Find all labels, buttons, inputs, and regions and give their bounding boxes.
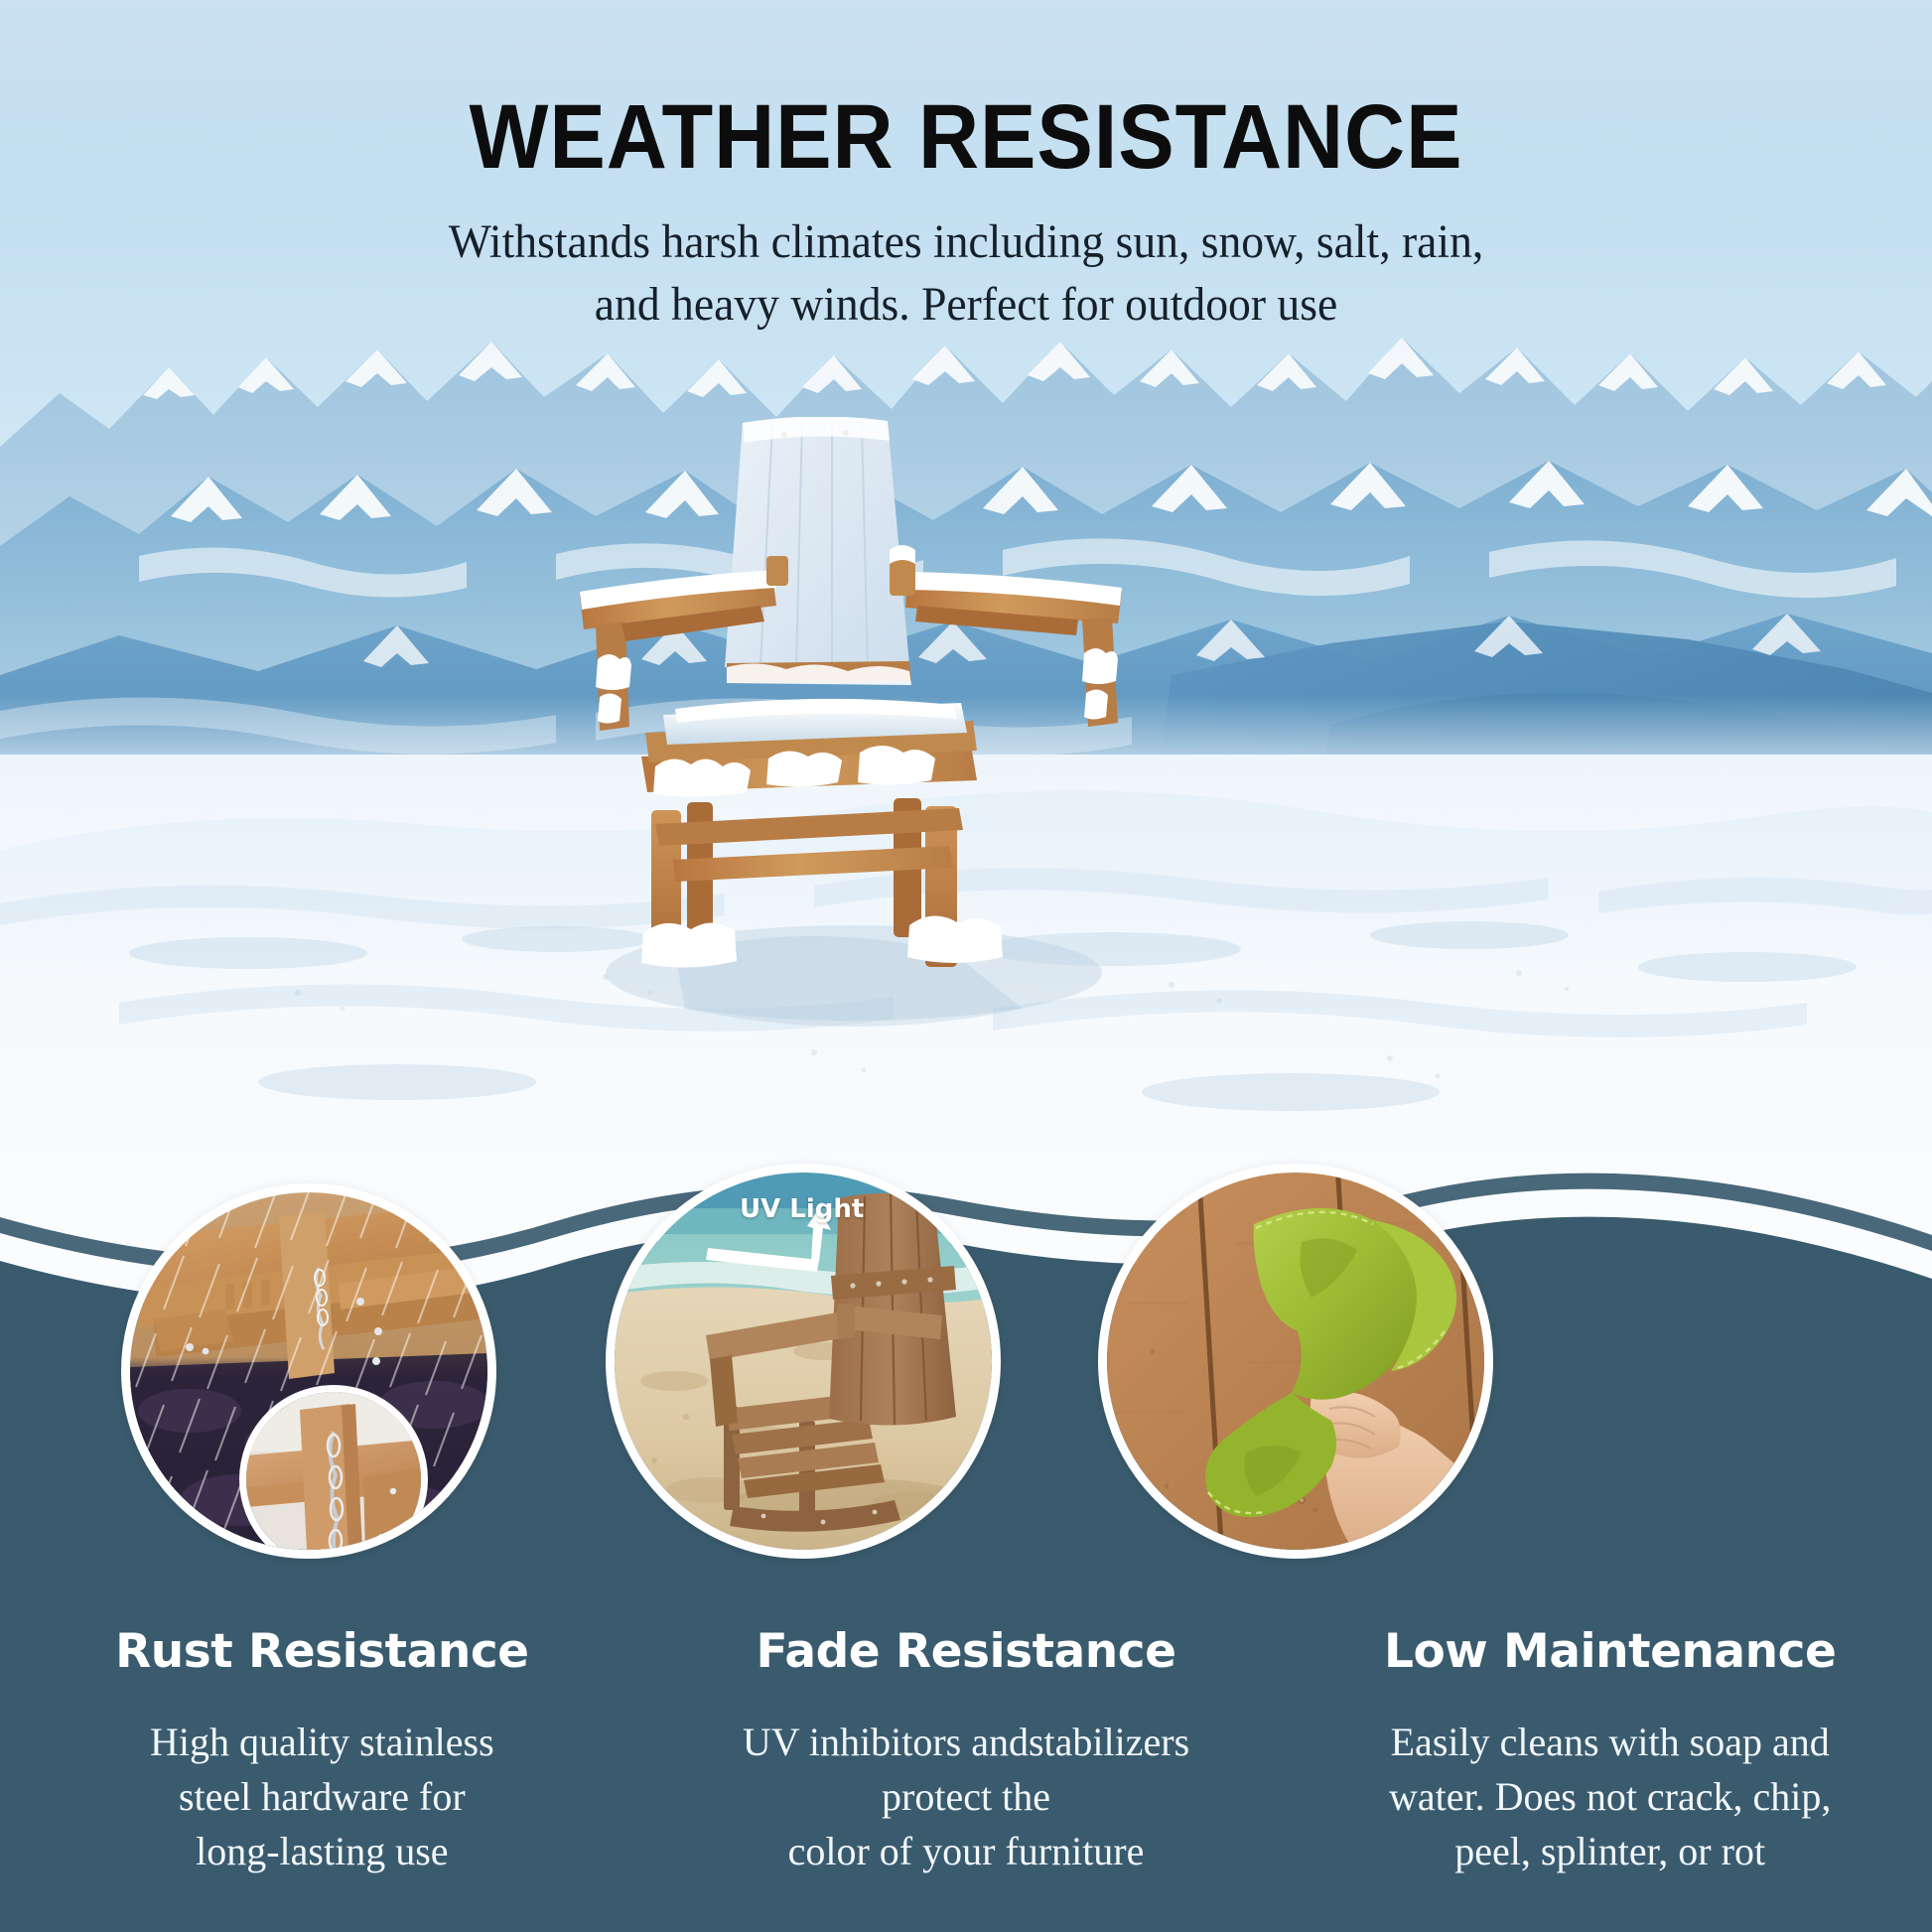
feature-image-low-maintenance[interactable]	[1098, 1164, 1493, 1559]
desc-line: High quality stainless	[40, 1715, 605, 1769]
feature-column-rust-resistance: Rust Resistance High quality stainless s…	[0, 1628, 644, 1879]
desc-line: UV inhibitors andstabilizers	[684, 1715, 1249, 1769]
feature-column-low-maintenance: Low Maintenance Easily cleans with soap …	[1288, 1628, 1932, 1879]
feature-title-fade-resistance: Fade Resistance	[684, 1628, 1249, 1675]
header-block: WEATHER RESISTANCE Withstands harsh clim…	[0, 0, 1932, 337]
feature-desc-fade-resistance: UV inhibitors andstabilizers protect the…	[684, 1715, 1249, 1879]
feature-desc-rust-resistance: High quality stainless steel hardware fo…	[40, 1715, 605, 1879]
rust-hardware-inset-circle	[239, 1385, 428, 1559]
desc-line: peel, splinter, or rot	[1327, 1824, 1892, 1878]
feature-title-rust-resistance: Rust Resistance	[40, 1628, 605, 1675]
feature-text-row: Rust Resistance High quality stainless s…	[0, 1628, 1932, 1879]
subtitle-line-2: and heavy winds. Perfect for outdoor use	[49, 273, 1884, 336]
feature-title-low-maintenance: Low Maintenance	[1327, 1628, 1892, 1675]
desc-line: color of your furniture	[684, 1824, 1249, 1878]
desc-line: long-lasting use	[40, 1824, 605, 1878]
page-subtitle: Withstands harsh climates including sun,…	[49, 210, 1884, 337]
feature-image-fade-resistance[interactable]: UV Light	[606, 1164, 1001, 1559]
uv-light-label: UV Light	[740, 1194, 864, 1224]
desc-line: protect the	[684, 1769, 1249, 1824]
desc-line: Easily cleans with soap and	[1327, 1715, 1892, 1769]
feature-desc-low-maintenance: Easily cleans with soap and water. Does …	[1327, 1715, 1892, 1879]
infographic-canvas: UV Light	[0, 0, 1932, 1932]
page-title: WEATHER RESISTANCE	[77, 91, 1855, 183]
subtitle-line-1: Withstands harsh climates including sun,…	[49, 210, 1884, 273]
feature-column-fade-resistance: Fade Resistance UV inhibitors andstabili…	[644, 1628, 1289, 1879]
desc-line: water. Does not crack, chip,	[1327, 1769, 1892, 1824]
desc-line: steel hardware for	[40, 1769, 605, 1824]
feature-image-rust-resistance[interactable]	[121, 1183, 496, 1559]
